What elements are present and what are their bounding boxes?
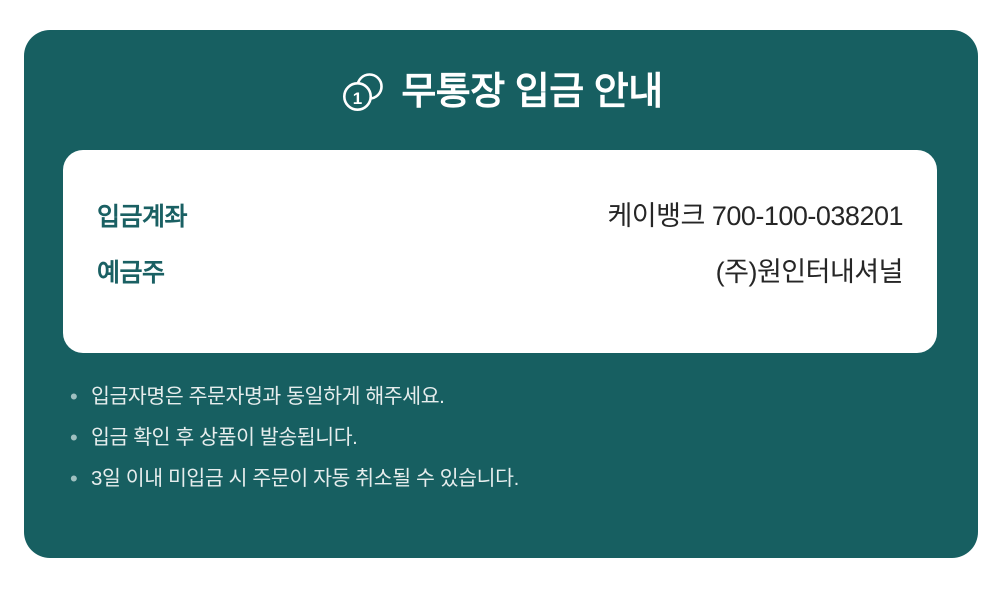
info-row-account: 입금계좌 케이뱅크 700-100-038201 [97,194,903,250]
account-info-card: 입금계좌 케이뱅크 700-100-038201 예금주 (주)원인터내셔널 [63,150,937,353]
list-item: • 입금자명은 주문자명과 동일하게 해주세요. [63,382,943,423]
note-text: 입금자명은 주문자명과 동일하게 해주세요. [91,382,444,411]
info-row-holder: 예금주 (주)원인터내셔널 [97,250,903,306]
bullet-icon: • [63,382,91,411]
account-label: 입금계좌 [97,197,187,233]
list-item: • 3일 이내 미입금 시 주문이 자동 취소될 수 있습니다. [63,464,943,505]
coins-one-icon: 1 [339,68,387,116]
notes-list: • 입금자명은 주문자명과 동일하게 해주세요. • 입금 확인 후 상품이 발… [63,382,943,505]
note-text: 입금 확인 후 상품이 발송됩니다. [91,423,357,452]
svg-text:1: 1 [353,89,362,108]
bullet-icon: • [63,464,91,493]
holder-label: 예금주 [97,253,165,289]
panel-header: 1 무통장 입금 안내 [24,58,978,126]
list-item: • 입금 확인 후 상품이 발송됩니다. [63,423,943,464]
note-text: 3일 이내 미입금 시 주문이 자동 취소될 수 있습니다. [91,464,519,493]
bullet-icon: • [63,423,91,452]
page-title: 무통장 입금 안내 [401,73,662,111]
deposit-guide-panel: 1 무통장 입금 안내 입금계좌 케이뱅크 700-100-038201 예금주… [24,30,978,558]
page-root: 1 무통장 입금 안내 입금계좌 케이뱅크 700-100-038201 예금주… [0,0,1000,615]
holder-value: (주)원인터내셔널 [716,250,903,289]
account-value: 케이뱅크 700-100-038201 [607,194,903,233]
